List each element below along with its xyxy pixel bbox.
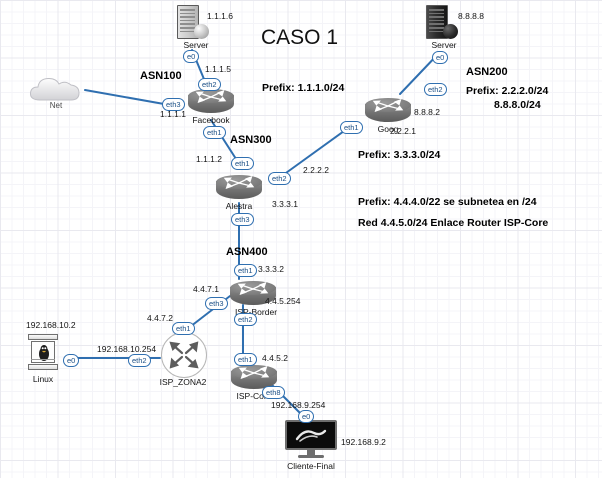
ip-address-label: 192.168.10.254 [97, 344, 156, 354]
port-badge-eth1[interactable]: eth1 [234, 264, 257, 277]
network-link [85, 90, 164, 104]
node-server-8888[interactable] [424, 5, 458, 41]
ip-address-label: 2.2.2.2 [303, 165, 329, 175]
node-name-text: Alestra [226, 201, 252, 211]
network-diagram-canvas: CASO 1 ASN100ASN200ASN300ASN400Prefix: 1… [0, 0, 602, 478]
ip-address-label: 1.1.1.2 [196, 154, 222, 164]
cloud-icon [27, 74, 85, 104]
node-label-net-cloud: Net [50, 101, 62, 110]
router-icon [188, 87, 234, 117]
linux-host-icon [28, 334, 58, 372]
node-name-text: Cliente-Final [287, 461, 335, 471]
ip-address-label: 4.4.7.2 [147, 313, 173, 323]
ip-address-label: 8.8.8.8 [458, 11, 484, 21]
node-name-text: Linux [33, 374, 53, 384]
ip-address-label: 2.2.2.1 [390, 126, 416, 136]
ip-address-label: 192.168.10.2 [26, 320, 76, 330]
node-name-text: Server [431, 40, 456, 50]
ip-address-label: 4.4.5.254 [265, 296, 300, 306]
prefix-label-prefix-1110: Prefix: 1.1.1.0/24 [262, 82, 344, 94]
node-label-router-facebook: Facebook [192, 115, 229, 125]
port-badge-eth3[interactable]: eth3 [231, 213, 254, 226]
port-badge-eth2[interactable]: eth2 [234, 313, 257, 326]
port-badge-eth8[interactable]: eth8 [262, 386, 285, 399]
port-badge-eth2[interactable]: eth2 [424, 83, 447, 96]
server-icon [175, 5, 209, 41]
client-monitor-icon [285, 420, 337, 460]
node-name-text: ISP_ZONA2 [160, 377, 207, 387]
node-label-host-linux: Linux [33, 374, 53, 384]
ip-address-label: 1.1.1.5 [205, 64, 231, 74]
node-label-host-cliente: Cliente-Final [287, 461, 335, 471]
node-host-cliente[interactable] [285, 420, 337, 460]
ip-address-label: 192.168.9.2 [341, 437, 386, 447]
asn-label-asn200: ASN200 [466, 66, 508, 78]
port-badge-eth2[interactable]: eth2 [268, 172, 291, 185]
node-router-google[interactable] [365, 96, 411, 126]
ip-address-label: 3.3.3.2 [258, 264, 284, 274]
prefix-label-prefix-8880: 8.8.8.0/24 [494, 99, 541, 111]
port-badge-eth3[interactable]: eth3 [205, 297, 228, 310]
port-badge-e0[interactable]: e0 [298, 410, 314, 423]
node-switch-zona2[interactable] [161, 332, 207, 378]
prefix-label-red-4450: Red 4.4.5.0/24 Enlace Router ISP-Core [358, 217, 548, 229]
port-badge-eth1[interactable]: eth1 [340, 121, 363, 134]
asn-label-asn300: ASN300 [230, 134, 272, 146]
port-badge-eth3[interactable]: eth3 [162, 98, 185, 111]
ip-address-label: 4.4.7.1 [193, 284, 219, 294]
node-label-switch-zona2: ISP_ZONA2 [160, 377, 207, 387]
ip-address-label: 3.3.3.1 [272, 199, 298, 209]
node-label-server-8888: Server [431, 40, 456, 50]
port-badge-e0[interactable]: e0 [432, 51, 448, 64]
port-badge-eth2[interactable]: eth2 [128, 354, 151, 367]
ip-address-label: 192.168.9.254 [271, 400, 325, 410]
node-server-1116[interactable] [175, 5, 209, 41]
node-net-cloud[interactable] [27, 74, 85, 104]
port-badge-e0[interactable]: e0 [63, 354, 79, 367]
router-icon [216, 173, 262, 203]
port-badge-eth1[interactable]: eth1 [234, 353, 257, 366]
port-badge-eth1[interactable]: eth1 [231, 157, 254, 170]
port-badge-eth1[interactable]: eth1 [172, 322, 195, 335]
node-label-server-1116: Server [183, 40, 208, 50]
prefix-label-prefix-4440: Prefix: 4.4.4.0/22 se subnetea en /24 [358, 196, 537, 208]
node-name-text: Facebook [192, 115, 229, 125]
node-label-router-alestra: Alestra [226, 201, 252, 211]
node-host-linux[interactable] [28, 334, 58, 372]
port-badge-e0[interactable]: e0 [183, 50, 199, 63]
prefix-label-prefix-3330: Prefix: 3.3.3.0/24 [358, 149, 440, 161]
asn-label-asn400: ASN400 [226, 246, 268, 258]
router-icon [365, 96, 411, 126]
server-icon [424, 5, 458, 41]
diagram-title: CASO 1 [261, 26, 338, 50]
prefix-label-prefix-2220: Prefix: 2.2.2.0/24 [466, 85, 548, 97]
port-badge-eth1[interactable]: eth1 [203, 126, 226, 139]
node-router-alestra[interactable] [216, 173, 262, 203]
switch-icon [161, 332, 207, 378]
ip-address-label: 8.8.8.2 [414, 107, 440, 117]
node-name-text: Server [183, 40, 208, 50]
port-badge-eth2[interactable]: eth2 [198, 78, 221, 91]
node-router-facebook[interactable] [188, 87, 234, 117]
asn-label-asn100: ASN100 [140, 70, 182, 82]
ip-address-label: 1.1.1.6 [207, 11, 233, 21]
ip-address-label: 4.4.5.2 [262, 353, 288, 363]
